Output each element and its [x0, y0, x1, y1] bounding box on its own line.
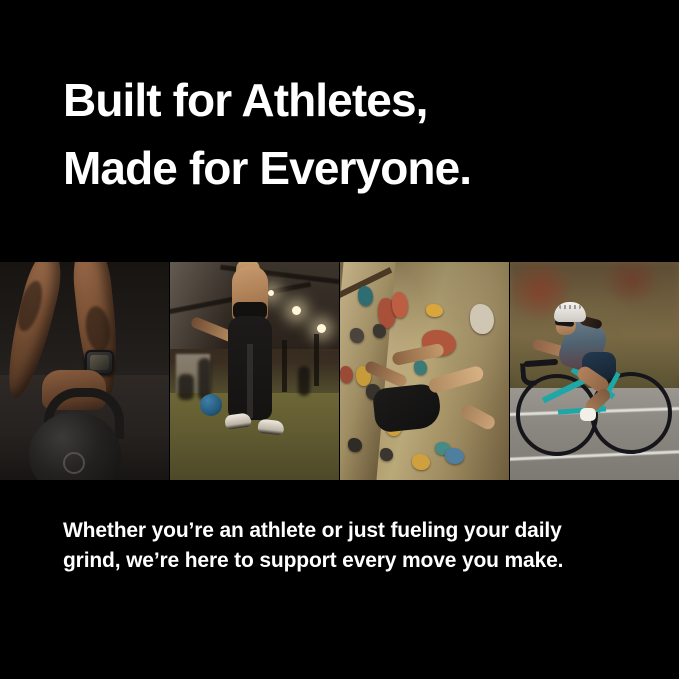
ceiling-light [317, 324, 326, 333]
climbing-hold [414, 360, 427, 375]
headline-block: Built for Athletes, Made for Everyone. [0, 0, 679, 202]
climbing-hold [412, 454, 430, 470]
page-title: Built for Athletes, Made for Everyone. [63, 66, 639, 202]
ceiling-light [268, 290, 274, 296]
climbing-hold [392, 292, 408, 318]
climbing-hold [348, 438, 362, 452]
medicine-ball [200, 394, 222, 416]
climbing-hold [380, 448, 393, 461]
photo-panel-jump-rope [170, 262, 339, 480]
climbing-hold [470, 304, 494, 334]
cyclist-shoe [580, 408, 596, 421]
ceiling-light [292, 306, 301, 315]
promo-banner: Built for Athletes, Made for Everyone. [0, 0, 679, 679]
climbing-hold [340, 366, 353, 383]
climbing-hold [426, 304, 443, 317]
equipment-rack [314, 334, 319, 386]
athlete-leggings [228, 316, 272, 420]
photo-panel-road-cyclist [510, 262, 679, 480]
photo-panel-kettlebell-lift [0, 262, 169, 480]
climbing-hold [445, 448, 464, 464]
climbing-hold [350, 328, 364, 343]
climbing-hold [373, 324, 386, 338]
background-figure [298, 366, 310, 396]
photo-strip [0, 262, 679, 480]
photo-panel-bouldering-wall [340, 262, 509, 480]
helmet-icon [554, 302, 586, 322]
body-copy: Whether you’re an athlete or just fuelin… [63, 516, 583, 576]
equipment-rack [282, 340, 287, 392]
body-copy-block: Whether you’re an athlete or just fuelin… [0, 516, 679, 576]
climbing-hold [358, 286, 373, 306]
background-figure [178, 374, 194, 400]
